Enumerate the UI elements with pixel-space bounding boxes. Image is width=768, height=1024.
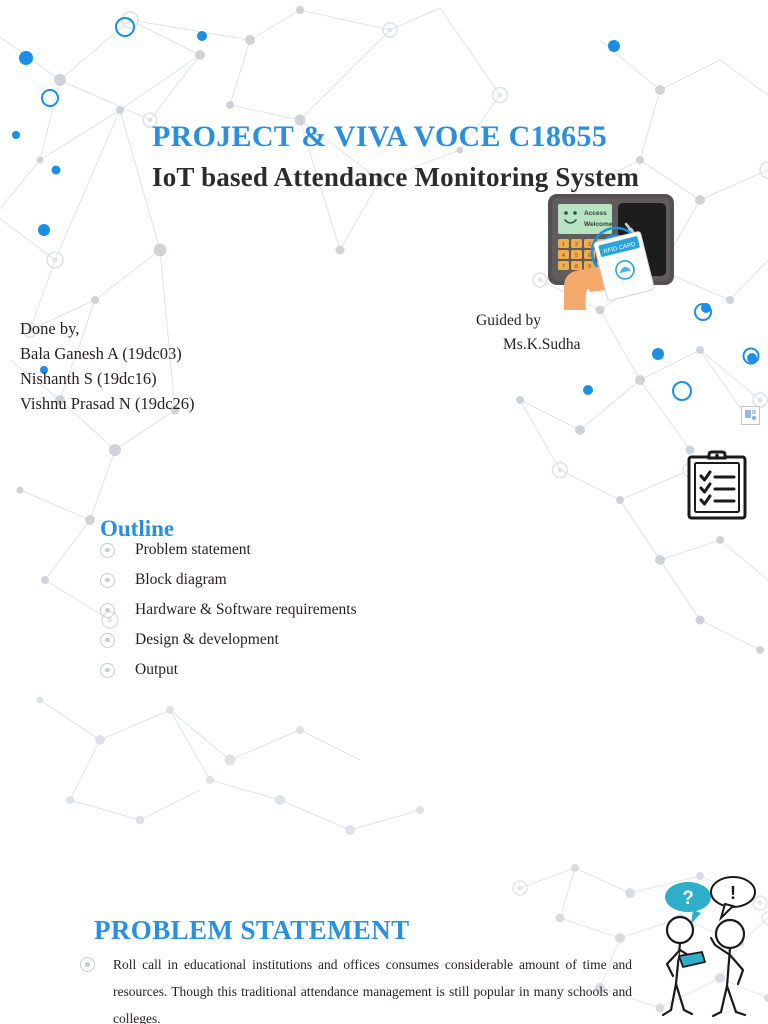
outline-item[interactable]: Block diagram <box>100 565 500 595</box>
svg-text:⌫: ⌫ <box>599 242 606 248</box>
outline-item-label: Problem statement <box>135 541 251 559</box>
section-heading: PROBLEM STATEMENT <box>94 915 410 946</box>
problem-statement-text: Roll call in educational institutions an… <box>113 951 632 1024</box>
ring-bullet-icon <box>100 543 115 558</box>
ring-bullet-icon <box>80 957 95 972</box>
outline-list: Problem statement Block diagram Hardware… <box>100 535 500 685</box>
author-name: Bala Ganesh A (19dc03) <box>20 341 195 366</box>
svg-text:2: 2 <box>575 242 578 248</box>
author-name: Nishanth S (19dc16) <box>20 366 195 391</box>
svg-text:7: 7 <box>562 264 565 270</box>
svg-text:F3: F3 <box>613 264 619 270</box>
guide-name: Ms.K.Sudha <box>476 333 581 357</box>
slide-problem-statement: PROBLEM STATEMENT Roll call in education… <box>0 858 768 1024</box>
svg-text:6: 6 <box>588 253 591 259</box>
outline-item[interactable]: Problem statement <box>100 535 500 565</box>
ring-bullet-icon <box>100 603 115 618</box>
ring-bullet-icon <box>100 573 115 588</box>
slide-title: PROJECT & VIVA VOCE C18655 IoT based Att… <box>0 0 768 858</box>
outline-item[interactable]: Hardware & Software requirements <box>100 595 500 625</box>
author-name: Vishnu Prasad N (19dc26) <box>20 391 195 416</box>
page-title: PROJECT & VIVA VOCE C18655 <box>152 120 607 154</box>
page-subtitle: IoT based Attendance Monitoring System <box>152 162 639 193</box>
svg-text:4: 4 <box>562 253 565 259</box>
svg-text:0: 0 <box>601 253 604 259</box>
outline-item[interactable]: Design & development <box>100 625 500 655</box>
svg-text:3: 3 <box>588 242 591 248</box>
svg-text:!: ! <box>730 883 736 903</box>
done-by-label: Done by, <box>20 316 195 341</box>
guided-by-block: Guided by Ms.K.Sudha <box>476 309 581 357</box>
outline-item-label: Block diagram <box>135 571 227 589</box>
presentation-deck: PROJECT & VIVA VOCE C18655 IoT based Att… <box>0 0 768 1024</box>
svg-text:9: 9 <box>588 264 591 270</box>
svg-text:←: ← <box>600 264 605 270</box>
outline-item-label: Design & development <box>135 631 279 649</box>
svg-text:Access: Access <box>584 210 607 217</box>
ring-bullet-icon <box>100 633 115 648</box>
broken-image-placeholder-icon <box>741 406 760 425</box>
outline-item-label: Hardware & Software requirements <box>135 601 357 619</box>
outline-item-label: Output <box>135 661 178 679</box>
ring-bullet-icon <box>100 663 115 678</box>
svg-text:1: 1 <box>562 242 565 248</box>
svg-text:F1: F1 <box>613 242 619 248</box>
done-by-block: Done by, Bala Ganesh A (19dc03) Nishanth… <box>20 316 195 416</box>
guided-by-label: Guided by <box>476 309 581 333</box>
svg-text:Welcome: Welcome <box>584 221 613 228</box>
svg-text:?: ? <box>682 888 694 909</box>
two-people-discussion-icon: ? ! <box>657 872 763 1022</box>
svg-text:5: 5 <box>575 253 578 259</box>
outline-item[interactable]: Output <box>100 655 500 685</box>
svg-text:8: 8 <box>575 264 578 270</box>
rfid-attendance-device-icon: Access Welcome 123 <box>546 192 676 287</box>
svg-text:F2: F2 <box>613 253 619 259</box>
checklist-clipboard-icon <box>686 449 748 521</box>
problem-statement-bullet: Roll call in educational institutions an… <box>80 951 632 1024</box>
